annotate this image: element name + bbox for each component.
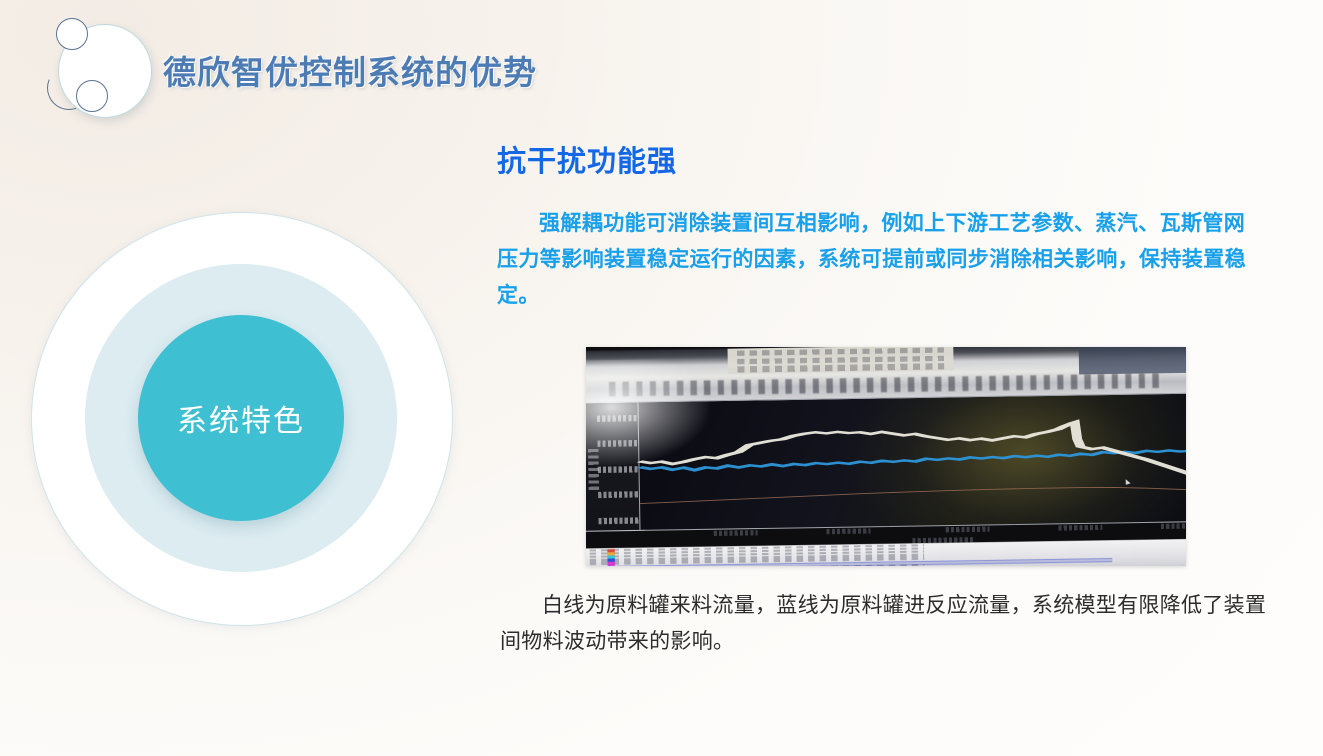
body-paragraph: 强解耦功能可消除装置间互相影响，例如上下游工艺参数、蒸汽、瓦斯管网压力等影响装置… [497,206,1257,314]
tag-row [737,355,945,364]
tag-list-panel [728,347,954,374]
trend-plot-area [637,392,1186,531]
legend-table [586,539,1186,566]
section-heading: 抗干扰功能强 [497,138,1287,180]
x-axis-tick [1161,524,1186,530]
trend-line-blue [639,450,1186,471]
x-axis-tick [827,529,871,535]
y-axis-tick [597,466,639,473]
x-axis-tick [714,531,758,537]
x-axis-tick [945,527,989,533]
y-axis-panel [586,401,645,532]
slide-canvas: 德欣智优控制系统的优势 系统特色 抗干扰功能强 强解耦功能可消除装置间互相影响，… [0,0,1323,756]
y-axis-tick [598,492,640,499]
window-chrome-right [1079,347,1186,374]
y-axis-title [588,449,599,493]
small-outline-circle-bottom [76,80,108,112]
trend-line-red [640,485,1186,503]
photo-content [586,347,1186,566]
tag-row [737,363,945,372]
ring-center-label: 系统特色 [177,396,305,440]
x-axis-tick [1059,525,1103,531]
trend-curves [638,393,1186,530]
small-outline-circle-top [56,18,88,50]
y-axis-tick [597,415,639,422]
content-column: 抗干扰功能强 强解耦功能可消除装置间互相影响，例如上下游工艺参数、蒸汽、瓦斯管网… [497,138,1287,314]
y-axis-tick [598,517,640,524]
header-decoration [36,8,166,120]
y-axis-tick [597,440,639,447]
ring-inner: 系统特色 [138,315,344,521]
tag-row [737,347,945,356]
photo-caption: 白线为原料罐来料流量，蓝线为原料罐进反应流量，系统模型有限降低了装置间物料波动带… [500,588,1280,660]
feature-rings-graphic: 系统特色 [31,212,455,628]
page-title: 德欣智优控制系统的优势 [163,46,537,94]
monitor-trend-photo [586,347,1186,566]
